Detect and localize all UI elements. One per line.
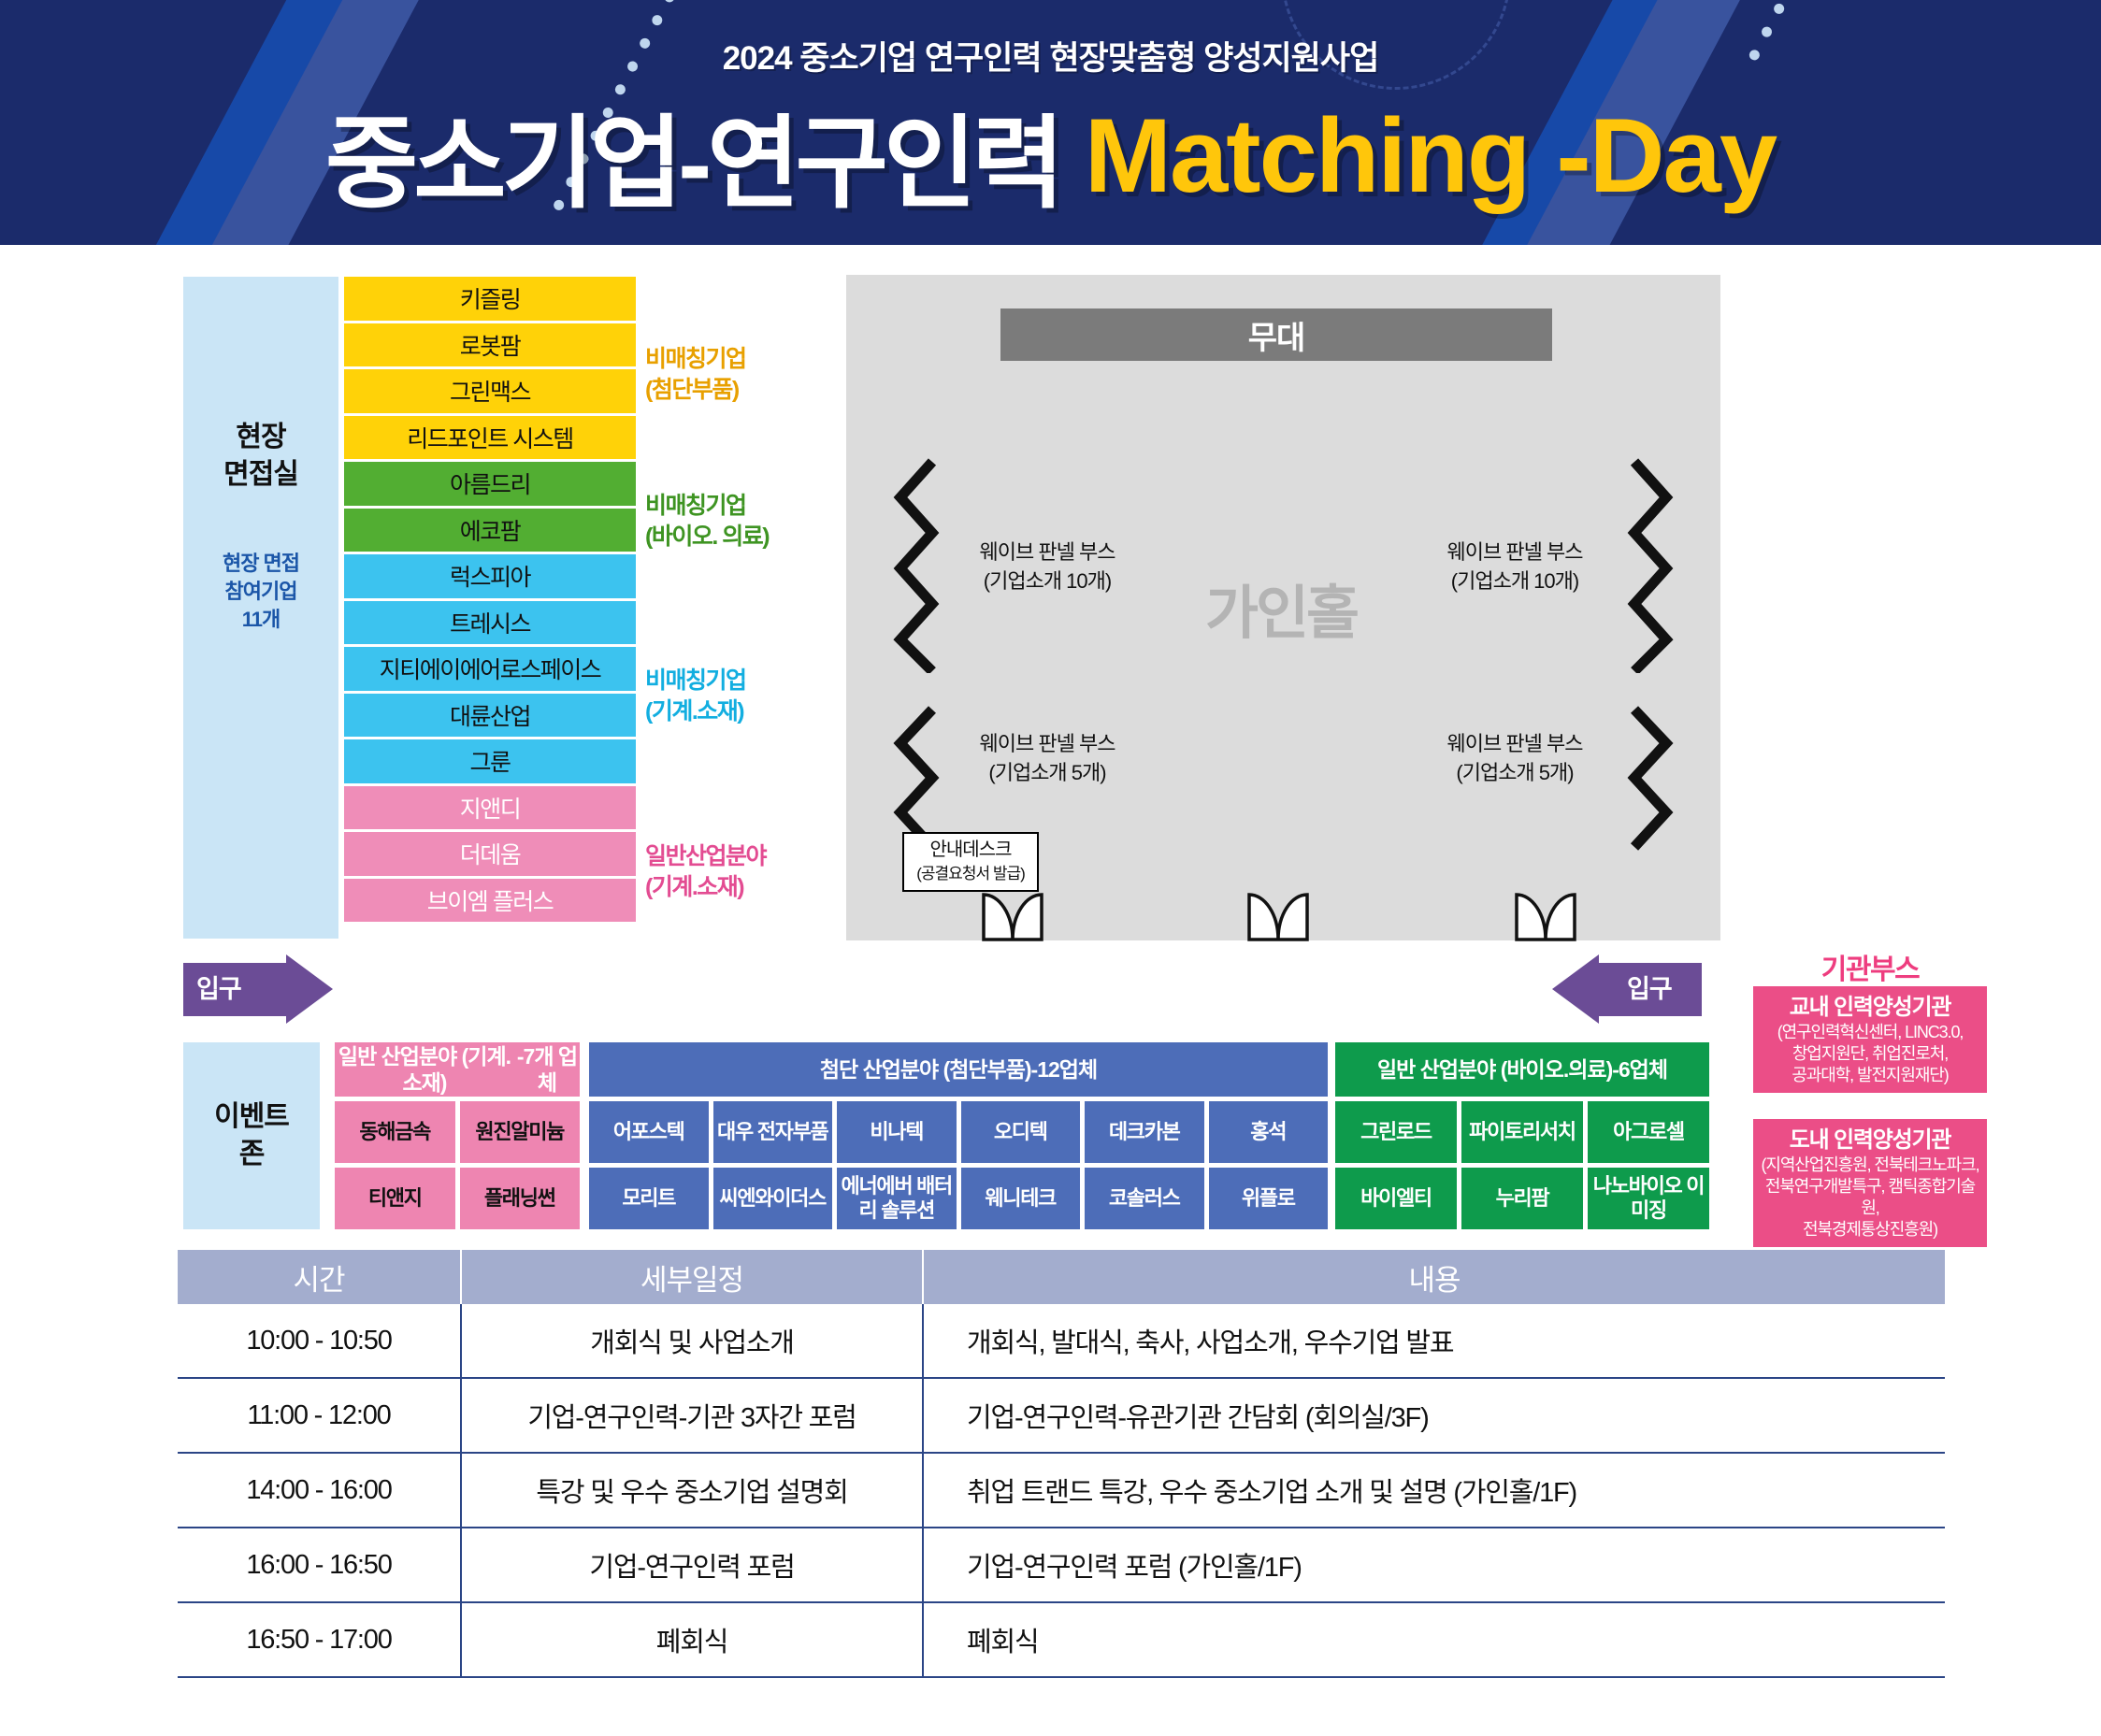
event-zone-company-cell: 누리팜 [1461,1168,1583,1229]
arrow-head [1552,954,1599,1024]
door-icon [1515,893,1576,941]
event-zone-row: 동해금속원진알미늄 [335,1101,580,1163]
institution-booth-province: 도내 인력양성기관 (지역산업진흥원, 전북테크노파크, 전북연구개발특구, 캠… [1753,1119,1987,1247]
booth-label-line2: (기업소개 10개) [935,567,1159,595]
banner-title-korean: 중소기업-연구인력 [325,82,1060,228]
wave-panel-icon [1627,706,1674,851]
schedule-cell-detail: 개회식 및 사업소개 [461,1304,923,1378]
legend-line1: 비매칭기업 [645,666,746,696]
heading-line1: 일반 산업분야 (바이오.의료)-6업체 [1377,1056,1667,1083]
legend-line1: 일반산업분야 [645,841,766,872]
schedule-header-time: 시간 [178,1250,461,1304]
event-zone-company-cell: 대우 전자부품 [713,1101,833,1163]
schedule-cell-detail: 기업-연구인력 포럼 [461,1528,923,1602]
event-zone-company-cell: 위플로 [1209,1168,1329,1229]
event-zone-label: 이벤트 존 [183,1042,320,1229]
booth-label-bottom-left: 웨이브 판넬 부스 (기업소개 5개) [935,729,1159,787]
banner-subtitle: 2024 중소기업 연구인력 현장맞춤형 양성지원사업 [0,32,2101,79]
event-zone-company-cell: 홍석 [1209,1101,1329,1163]
company-row: 브이엠 플러스 [344,879,636,923]
door-icon [982,893,1043,941]
wave-panel-icon [893,458,940,673]
entrance-arrow-left: 입구 [183,963,333,1016]
event-zone-company-cell: 플래닝썬 [460,1168,581,1229]
event-zone-group-heading: 첨단 산업분야 (첨단부품)-12업체 [589,1042,1328,1097]
company-row: 그룬 [344,739,636,783]
heading-line1: 첨단 산업분야 (첨단부품)-12업체 [820,1056,1097,1083]
event-zone-row: 모리트씨엔와이더스에너에버 배터리 솔루션웨니테크코솔러스위플로 [589,1168,1328,1229]
company-row: 그린맥스 [344,369,636,413]
institution-booth-sub-line2: 창업지원단, 취업진로처, [1759,1043,1981,1065]
event-zone-row: 바이엘티누리팜나노바이오 이미징 [1335,1168,1709,1229]
company-row: 키즐링 [344,277,636,321]
schedule-header-row: 시간 세부일정 내용 [178,1250,1945,1304]
schedule-cell-time: 16:50 - 17:00 [178,1602,461,1677]
arrow-head [286,954,333,1024]
institution-booth-sub-line3: 공과대학, 발전지원재단) [1759,1065,1981,1086]
event-zone-row: 어포스텍대우 전자부품비나텍오디텍데크카본홍석 [589,1101,1328,1163]
institution-booth-sub-line2: 전북연구개발특구, 캠틱종합기술원, [1759,1176,1981,1219]
schedule-row: 16:00 - 16:50기업-연구인력 포럼기업-연구인력 포럼 (가인홀/1… [178,1528,1945,1602]
event-zone-company-cell: 웨니테크 [961,1168,1081,1229]
company-row: 트레시스 [344,601,636,645]
interview-room-note-line3: 11개 [183,606,338,634]
event-zone-group: 첨단 산업분야 (첨단부품)-12업체어포스텍대우 전자부품비나텍오디텍데크카본… [589,1042,1328,1229]
event-zone-group: 일반 산업분야 (기계.소재)-7개 업체동해금속원진알미늄티앤지플래닝썬 [335,1042,580,1229]
booth-label-line1: 웨이브 판넬 부스 [1403,538,1627,567]
event-zone-group: 일반 산업분야 (바이오.의료)-6업체그린로드파이토리서치아그로셀바이엘티누리… [1335,1042,1709,1229]
event-zone-company-cell: 데크카본 [1085,1101,1204,1163]
event-zone-company-cell: 에너에버 배터리 솔루션 [837,1168,957,1229]
event-zone-company-cell: 비나텍 [837,1101,957,1163]
schedule-cell-detail: 특강 및 우수 중소기업 설명회 [461,1453,923,1528]
event-zone-row: 그린로드파이토리서치아그로셀 [1335,1101,1709,1163]
interview-room-note-line2: 참여기업 [183,578,338,606]
booth-label-line2: (기업소개 5개) [1403,758,1627,787]
schedule-cell-time: 10:00 - 10:50 [178,1304,461,1378]
event-zone-company-cell: 그린로드 [1335,1101,1457,1163]
event-zone-company-cell: 어포스텍 [589,1101,709,1163]
event-zone-row: 티앤지플래닝썬 [335,1168,580,1229]
legend-machinery-materials: 비매칭기업 (기계.소재) [645,666,746,727]
heading-line1: 일반 산업분야 (기계.소재) [335,1043,514,1096]
schedule-cell-content: 기업-연구인력 포럼 (가인홀/1F) [923,1528,1945,1602]
booth-label-top-left: 웨이브 판넬 부스 (기업소개 10개) [935,538,1159,595]
schedule-cell-time: 11:00 - 12:00 [178,1378,461,1453]
legend-line2: (첨단부품) [645,375,746,406]
schedule-cell-detail: 폐회식 [461,1602,923,1677]
company-row: 지앤디 [344,786,636,830]
schedule-header-detail: 세부일정 [461,1250,923,1304]
schedule-cell-content: 개회식, 발대식, 축사, 사업소개, 우수기업 발표 [923,1304,1945,1378]
interview-room-note-line1: 현장 면접 [183,550,338,578]
event-zone-company-cell: 파이토리서치 [1461,1101,1583,1163]
company-row: 에코팜 [344,509,636,552]
event-zone-company-cell: 모리트 [589,1168,709,1229]
interview-room-title: 현장 면접실 [183,419,338,494]
schedule-header-content: 내용 [923,1250,1945,1304]
company-row: 리드포인트 시스템 [344,416,636,460]
event-zone-company-cell: 원진알미늄 [460,1101,581,1163]
schedule-cell-time: 14:00 - 16:00 [178,1453,461,1528]
booth-label-line1: 웨이브 판넬 부스 [935,538,1159,567]
schedule-cell-detail: 기업-연구인력-기관 3자간 포럼 [461,1378,923,1453]
schedule-row: 10:00 - 10:50개회식 및 사업소개개회식, 발대식, 축사, 사업소… [178,1304,1945,1378]
schedule-row: 11:00 - 12:00기업-연구인력-기관 3자간 포럼기업-연구인력-유관… [178,1378,1945,1453]
guide-desk-subtitle: (공결요청서 발급) [916,862,1025,885]
interview-room-title-line1: 현장 [183,419,338,456]
institution-booth-title-text: 도내 인력양성기관 [1759,1126,1981,1155]
legend-line2: (기계.소재) [645,872,766,903]
wave-panel-icon [893,706,940,851]
legend-general-industry: 일반산업분야 (기계.소재) [645,841,766,903]
booth-label-bottom-right: 웨이브 판넬 부스 (기업소개 5개) [1403,729,1627,787]
legend-line2: (바이오. 의료) [645,522,769,552]
company-row: 아름드리 [344,462,636,506]
schedule-body: 10:00 - 10:50개회식 및 사업소개개회식, 발대식, 축사, 사업소… [178,1304,1945,1677]
event-zone-label-line1: 이벤트 [214,1098,289,1136]
banner-title-english: Matching -Day [1085,95,1776,216]
event-zone-company-cell: 씨엔와이더스 [713,1168,833,1229]
institution-booth-title: 기관부스 [1753,946,1987,987]
event-zone-label-line2: 존 [239,1136,265,1173]
entrance-right-label: 입구 [1627,963,1672,1016]
company-row: 더데움 [344,832,636,876]
booth-label-line2: (기업소개 10개) [1403,567,1627,595]
guide-desk-title: 안내데스크 [930,839,1012,862]
schedule-cell-content: 취업 트랜드 특강, 우수 중소기업 소개 및 설명 (가인홀/1F) [923,1453,1945,1528]
heading-line2: -7개 업체 [514,1043,580,1096]
event-zone-company-cell: 바이엘티 [1335,1168,1457,1229]
institution-booth-title-text: 교내 인력양성기관 [1759,993,1981,1022]
event-zone-rows: 어포스텍대우 전자부품비나텍오디텍데크카본홍석모리트씨엔와이더스에너에버 배터리… [589,1101,1328,1229]
event-zone-company-cell: 코솔러스 [1085,1168,1204,1229]
event-zone-rows: 동해금속원진알미늄티앤지플래닝썬 [335,1101,580,1229]
schedule-cell-time: 16:00 - 16:50 [178,1528,461,1602]
institution-booth-sub-line1: (지역산업진흥원, 전북테크노파크, [1759,1155,1981,1176]
schedule-table: 시간 세부일정 내용 10:00 - 10:50개회식 및 사업소개개회식, 발… [178,1250,1945,1678]
schedule-cell-content: 폐회식 [923,1602,1945,1677]
legend-line1: 비매칭기업 [645,344,746,375]
booth-label-line1: 웨이브 판넬 부스 [1403,729,1627,758]
door-icon [1247,893,1309,941]
banner-title: 중소기업-연구인력Matching -Day [0,82,2101,228]
interview-room-title-line2: 면접실 [183,456,338,494]
company-row: 지티에이에어로스페이스 [344,647,636,691]
wave-panel-icon [1627,458,1674,673]
interview-room-note: 현장 면접 참여기업 11개 [183,550,338,634]
legend-advanced-parts: 비매칭기업 (첨단부품) [645,344,746,406]
event-zone-group-heading: 일반 산업분야 (바이오.의료)-6업체 [1335,1042,1709,1097]
entrance-left-label: 입구 [196,963,241,1016]
legend-line1: 비매칭기업 [645,491,769,522]
event-zone-company-cell: 아그로셀 [1588,1101,1709,1163]
event-zone-company-cell: 나노바이오 이미징 [1588,1168,1709,1229]
booth-label-line1: 웨이브 판넬 부스 [935,729,1159,758]
entrance-arrow-right: 입구 [1552,963,1702,1016]
company-list: 키즐링로봇팜그린맥스리드포인트 시스템아름드리에코팜럭스피아트레시스지티에이에어… [344,277,636,925]
stage-block: 무대 [1000,308,1552,361]
legend-bio-medical: 비매칭기업 (바이오. 의료) [645,491,769,552]
institution-booth-campus: 교내 인력양성기관 (연구인력혁신센터, LINC3.0, 창업지원단, 취업진… [1753,986,1987,1093]
event-zone-company-cell: 오디텍 [961,1101,1081,1163]
schedule-row: 16:50 - 17:00폐회식폐회식 [178,1602,1945,1677]
header-banner: 2024 중소기업 연구인력 현장맞춤형 양성지원사업 중소기업-연구인력Mat… [0,0,2101,245]
booth-label-top-right: 웨이브 판넬 부스 (기업소개 10개) [1403,538,1627,595]
interview-room-panel: 현장 면접실 현장 면접 참여기업 11개 [183,277,338,939]
legend-line2: (기계.소재) [645,696,746,727]
event-zone-company-cell: 동해금속 [335,1101,455,1163]
institution-booth-sub-line1: (연구인력혁신센터, LINC3.0, [1759,1022,1981,1043]
institution-booth-sub-line3: 전북경제통상진흥원) [1759,1219,1981,1241]
event-zone-rows: 그린로드파이토리서치아그로셀바이엘티누리팜나노바이오 이미징 [1335,1101,1709,1229]
company-row: 럭스피아 [344,554,636,598]
event-zone-company-cell: 티앤지 [335,1168,455,1229]
guide-desk-box: 안내데스크 (공결요청서 발급) [902,832,1039,892]
booth-label-line2: (기업소개 5개) [935,758,1159,787]
company-row: 대륜산업 [344,694,636,738]
schedule-cell-content: 기업-연구인력-유관기관 간담회 (회의실/3F) [923,1378,1945,1453]
event-zone-group-heading: 일반 산업분야 (기계.소재)-7개 업체 [335,1042,580,1097]
schedule-row: 14:00 - 16:00특강 및 우수 중소기업 설명회취업 트랜드 특강, … [178,1453,1945,1528]
company-row: 로봇팜 [344,323,636,367]
